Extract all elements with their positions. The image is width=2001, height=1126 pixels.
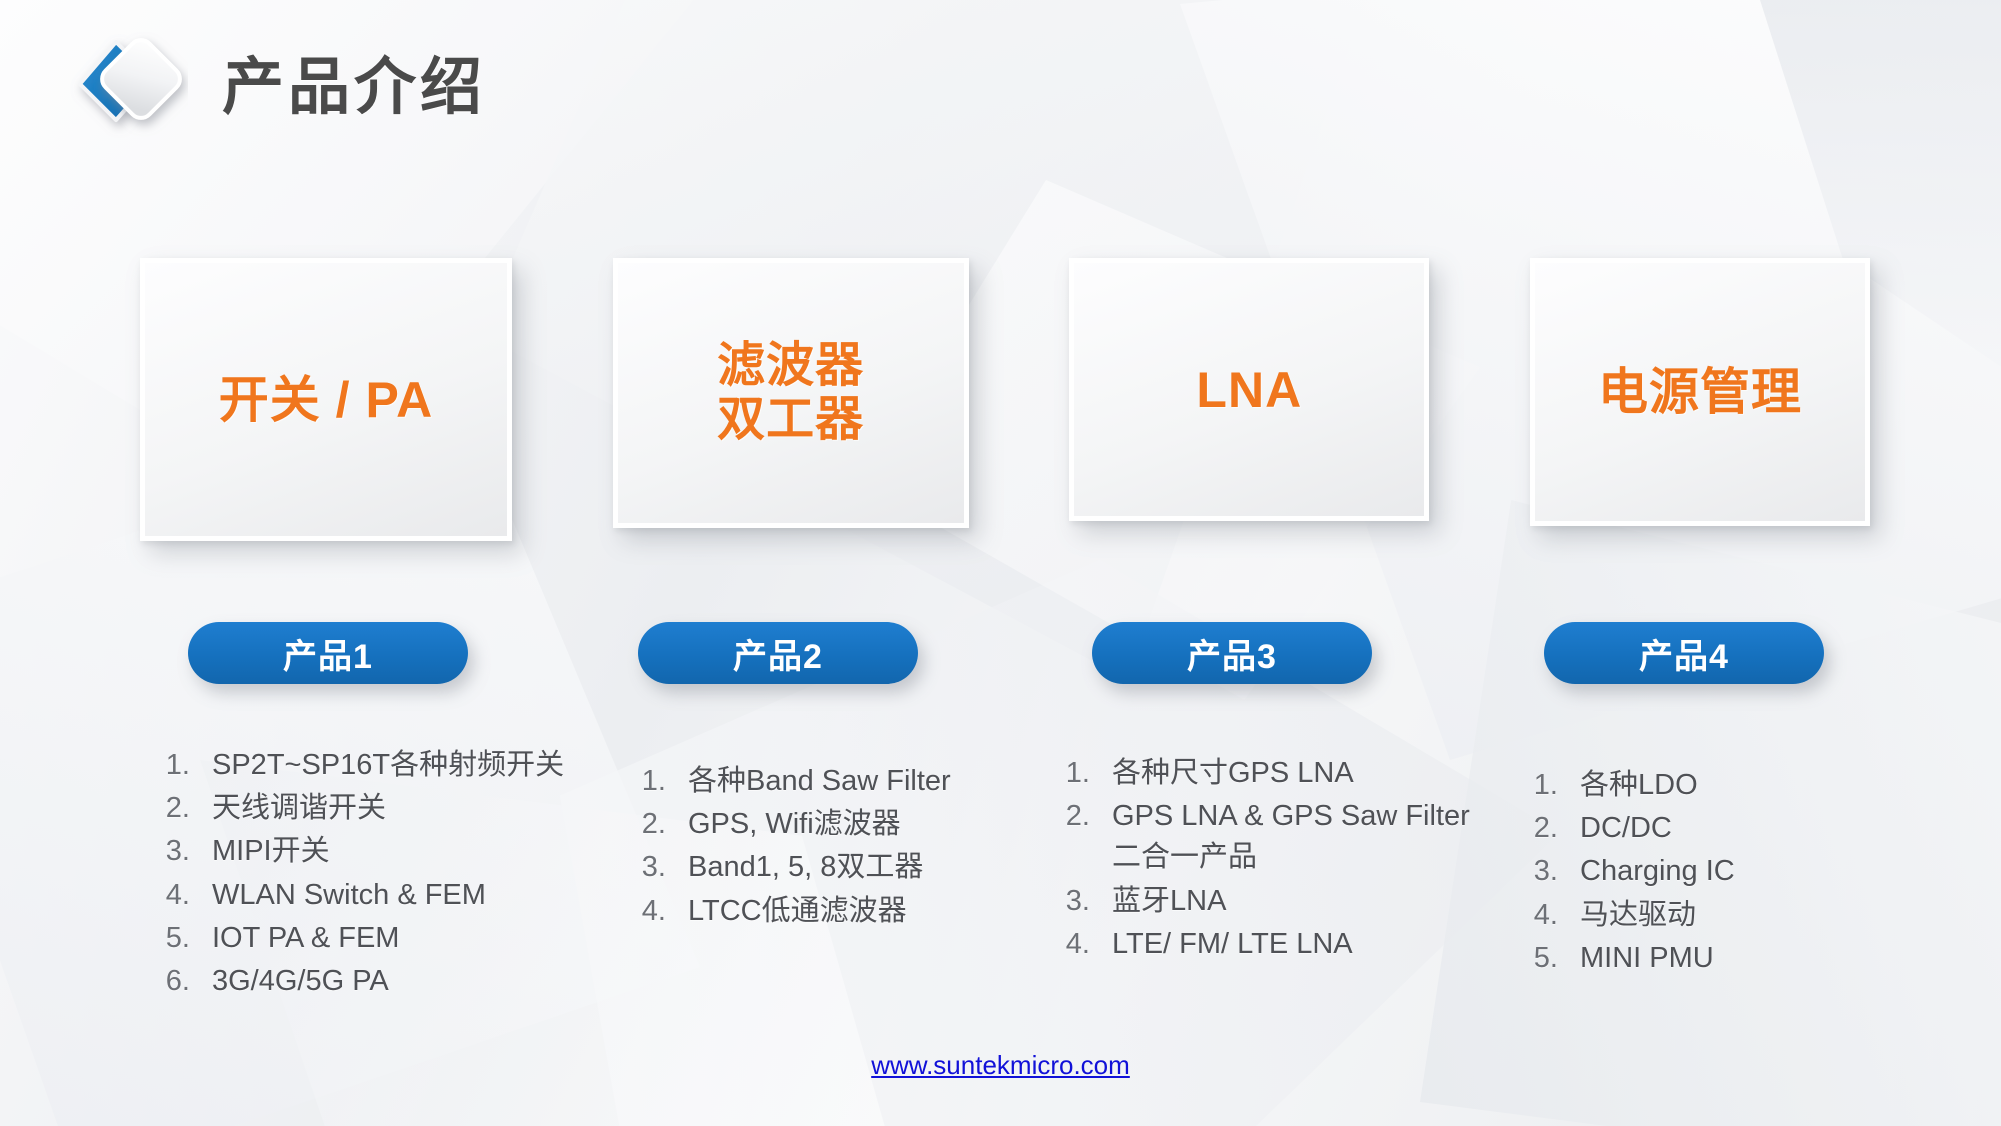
card-title: 滤波器 双工器: [717, 339, 864, 447]
list-item: 天线调谐开关: [198, 788, 592, 829]
card-title: LNA: [1196, 362, 1302, 418]
list-item: 各种LDO: [1566, 765, 1900, 806]
product-card-row: 开关 / PA 滤波器 双工器 LNA 电源管理: [140, 258, 1870, 558]
card-title: 开关 / PA: [219, 372, 433, 428]
list-item: 各种Band Saw Filter: [674, 761, 1038, 802]
list-item: GPS, Wifi滤波器: [674, 804, 1038, 845]
list-item: 蓝牙LNA: [1098, 881, 1472, 922]
list-item: GPS LNA & GPS Saw Filter二合一产品: [1098, 796, 1472, 878]
feature-list: 各种LDODC/DCCharging IC马达驱动MINI PMU: [1520, 765, 1900, 979]
list-item: 3G/4G/5G PA: [198, 961, 592, 1002]
list-item: 各种尺寸GPS LNA: [1098, 753, 1472, 794]
slide-header: 产品介绍: [70, 28, 486, 148]
card-power-management[interactable]: 电源管理: [1530, 258, 1870, 526]
list-item: IOT PA & FEM: [198, 918, 592, 959]
list-item: MIPI开关: [198, 831, 592, 872]
chevron-diamond-logo-icon: [70, 32, 188, 144]
feature-list: 各种Band Saw FilterGPS, Wifi滤波器Band1, 5, 8…: [628, 761, 1038, 932]
product-badge-4[interactable]: 产品4: [1544, 622, 1824, 684]
feature-list-row: SP2T~SP16T各种射频开关天线调谐开关MIPI开关WLAN Switch …: [140, 745, 1940, 1025]
page-title: 产品介绍: [222, 57, 486, 119]
list-item: SP2T~SP16T各种射频开关: [198, 745, 592, 786]
list-item: MINI PMU: [1566, 938, 1900, 979]
card-switch-pa[interactable]: 开关 / PA: [140, 258, 512, 541]
feature-list-product2: 各种Band Saw FilterGPS, Wifi滤波器Band1, 5, 8…: [628, 761, 1038, 934]
list-item: Charging IC: [1566, 851, 1900, 892]
feature-list: 各种尺寸GPS LNAGPS LNA & GPS Saw Filter二合一产品…: [1052, 753, 1472, 965]
product-badge-2[interactable]: 产品2: [638, 622, 918, 684]
feature-list-product4: 各种LDODC/DCCharging IC马达驱动MINI PMU: [1520, 765, 1900, 981]
slide: 产品介绍 开关 / PA 滤波器 双工器 LNA 电源管理 产品1 产品2 产品…: [0, 0, 2001, 1126]
feature-list-product1: SP2T~SP16T各种射频开关天线调谐开关MIPI开关WLAN Switch …: [152, 745, 592, 1004]
product-badge-3[interactable]: 产品3: [1092, 622, 1372, 684]
website-link[interactable]: www.suntekmicro.com: [871, 1050, 1130, 1080]
list-item: 马达驱动: [1566, 895, 1900, 936]
feature-list: SP2T~SP16T各种射频开关天线调谐开关MIPI开关WLAN Switch …: [152, 745, 592, 1002]
list-item: LTE/ FM/ LTE LNA: [1098, 924, 1472, 965]
footer: www.suntekmicro.com: [0, 1050, 2001, 1081]
card-filter-duplexer[interactable]: 滤波器 双工器: [613, 258, 969, 528]
list-item: DC/DC: [1566, 808, 1900, 849]
list-item: LTCC低通滤波器: [674, 891, 1038, 932]
feature-list-product3: 各种尺寸GPS LNAGPS LNA & GPS Saw Filter二合一产品…: [1052, 753, 1472, 967]
card-title: 电源管理: [1598, 364, 1802, 420]
card-lna[interactable]: LNA: [1069, 258, 1429, 521]
list-item: WLAN Switch & FEM: [198, 875, 592, 916]
product-badge-1[interactable]: 产品1: [188, 622, 468, 684]
product-badge-row: 产品1 产品2 产品3 产品4: [140, 622, 1870, 692]
list-item: Band1, 5, 8双工器: [674, 847, 1038, 888]
